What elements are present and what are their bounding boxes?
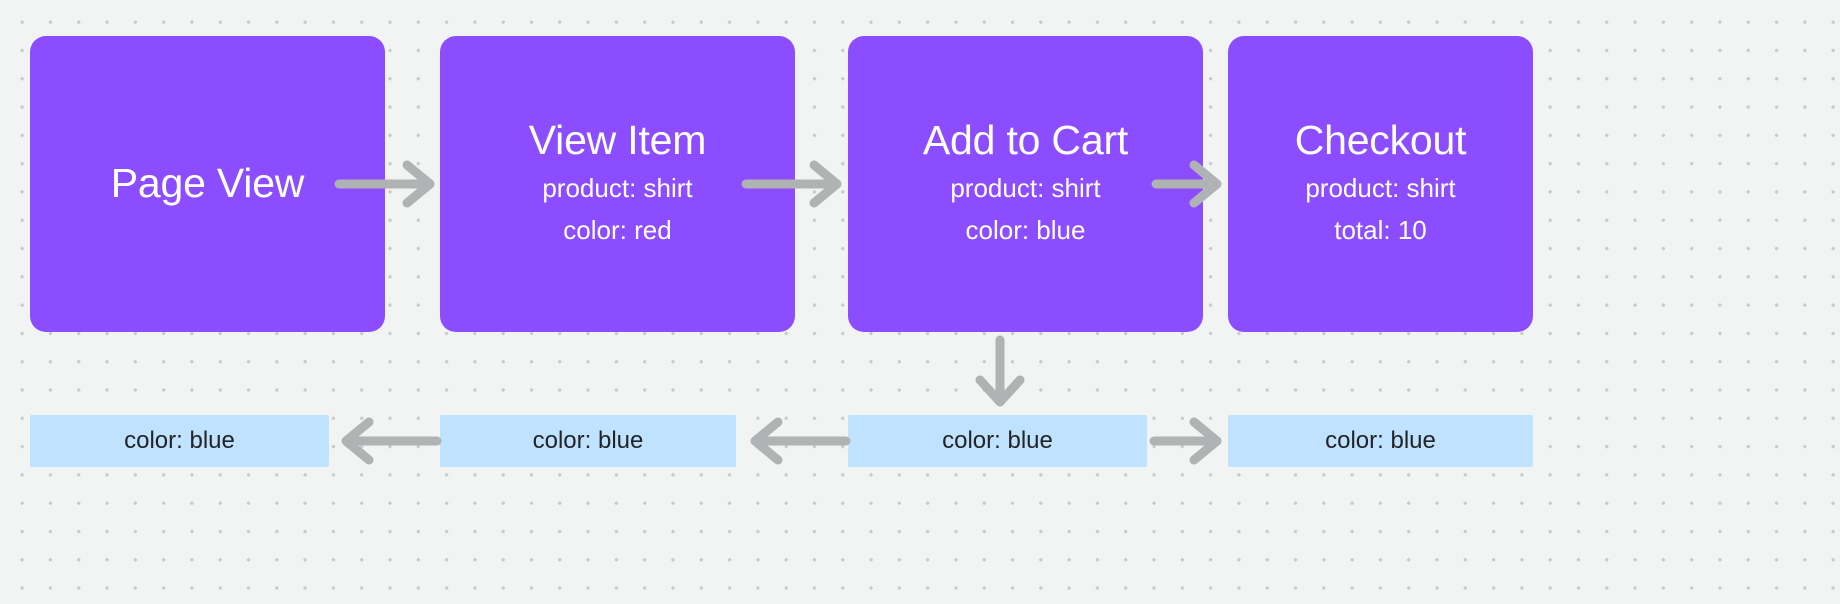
event-node-title: Page View <box>111 160 304 207</box>
property-node-color-blue-0[interactable]: color: blue <box>30 415 329 467</box>
edge-arrow-right-property-2-to-property-3 <box>1152 415 1230 467</box>
event-node-title: View Item <box>529 117 706 164</box>
event-node-add-to-cart[interactable]: Add to Cart product: shirt color: blue <box>848 36 1203 332</box>
event-node-checkout[interactable]: Checkout product: shirt total: 10 <box>1228 36 1533 332</box>
property-node-color-blue-2[interactable]: color: blue <box>848 415 1147 467</box>
edge-arrow-left-property-2-to-property-1 <box>742 415 850 467</box>
event-property: product: shirt <box>1305 168 1455 210</box>
event-node-properties: product: shirt color: red <box>542 168 692 251</box>
event-node-view-item[interactable]: View Item product: shirt color: red <box>440 36 795 332</box>
property-node-label: color: blue <box>1325 427 1436 455</box>
event-property: product: shirt <box>542 168 692 210</box>
edge-arrow-left-property-1-to-property-0 <box>333 415 441 467</box>
event-node-title: Checkout <box>1295 117 1467 164</box>
property-node-label: color: blue <box>124 427 235 455</box>
event-property: product: shirt <box>950 168 1100 210</box>
property-node-label: color: blue <box>533 427 644 455</box>
event-property: total: 10 <box>1334 210 1427 252</box>
property-node-color-blue-3[interactable]: color: blue <box>1228 415 1533 467</box>
event-node-properties: product: shirt color: blue <box>950 168 1100 251</box>
event-node-properties: product: shirt total: 10 <box>1305 168 1455 251</box>
event-node-title: Add to Cart <box>923 117 1128 164</box>
property-node-label: color: blue <box>942 427 1053 455</box>
flow-canvas[interactable]: Page View View Item product: shirt color… <box>0 0 1840 604</box>
edge-arrow-down-add-to-cart-to-property <box>968 336 1032 412</box>
event-node-page-view[interactable]: Page View <box>30 36 385 332</box>
event-property: color: red <box>563 210 671 252</box>
event-property: color: blue <box>966 210 1086 252</box>
property-node-color-blue-1[interactable]: color: blue <box>440 415 736 467</box>
